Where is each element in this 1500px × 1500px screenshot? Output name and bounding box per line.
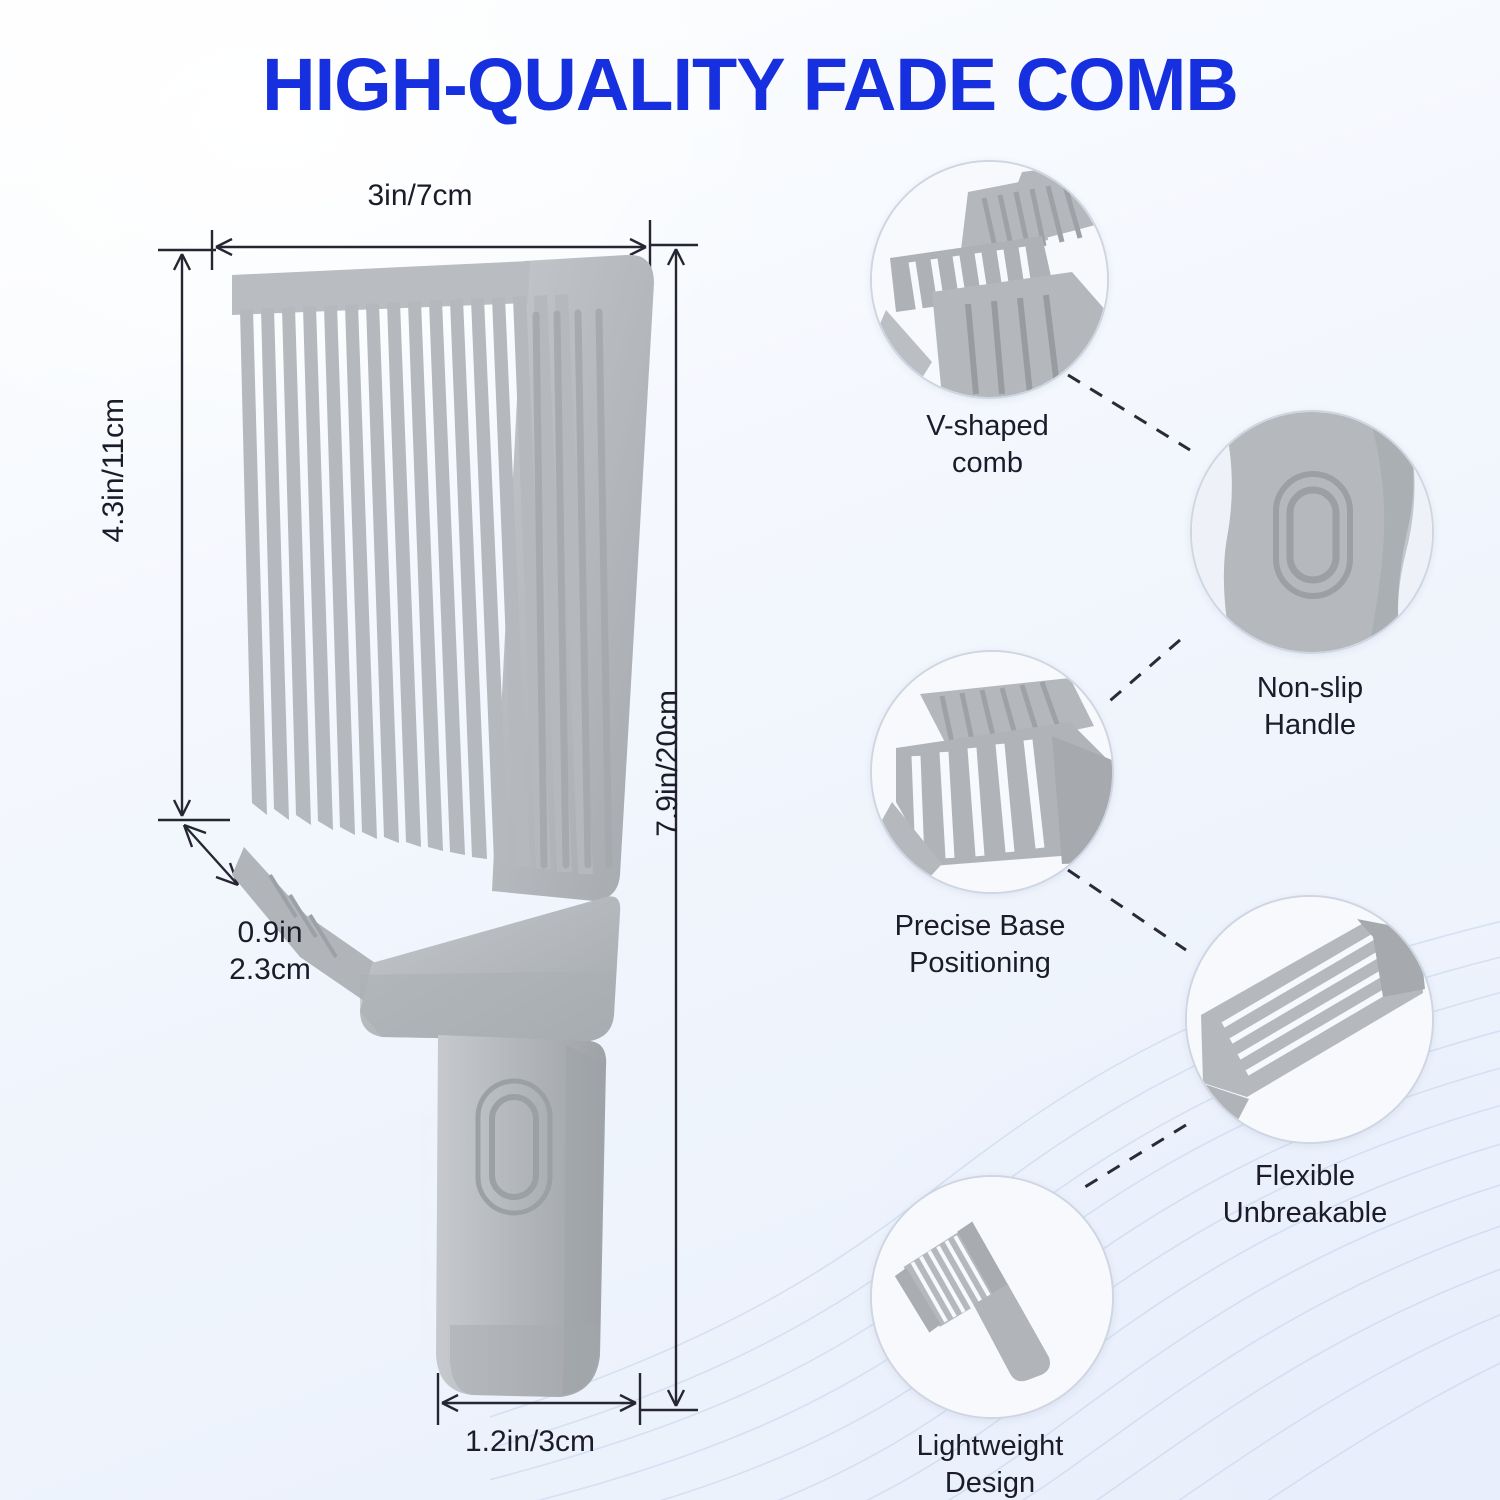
feature-caption-v-shaped-comb: V-shaped comb [850,408,1125,482]
dimension-thickness-label: 0.9in 2.3cm [175,915,365,988]
dimension-top-label: 3in/7cm [300,178,540,215]
feature-caption-precise-base: Precise Base Positioning [830,908,1130,982]
feature-callouts: V-shaped comb Non-slip Handle [830,160,1470,1490]
feature-bubble-lightweight [870,1175,1114,1419]
full-comb-closeup-icon [872,1177,1112,1417]
feature-bubble-non-slip-handle [1190,410,1434,654]
feature-bubble-flexible [1185,895,1434,1144]
feature-caption-lightweight: Lightweight Design [845,1428,1135,1500]
dimension-right-label: 7.9in/20cm [650,690,720,837]
feature-bubble-v-shaped-comb [870,160,1109,399]
page-title: HIGH-QUALITY FADE COMB [0,42,1500,127]
dimension-left-label: 4.3in/11cm [96,398,166,543]
comb-base-closeup-icon [872,652,1112,892]
handle-grip-closeup-icon [1192,412,1432,652]
feature-caption-flexible: Flexible Unbreakable [1160,1158,1450,1232]
feature-bubble-precise-base [870,650,1114,894]
comb-flex-closeup-icon [1187,897,1432,1142]
feature-caption-non-slip-handle: Non-slip Handle [1170,670,1450,744]
infographic-canvas: HIGH-QUALITY FADE COMB [0,0,1500,1500]
comb-teeth-closeup-icon [872,162,1107,397]
dimension-bottom-label: 1.2in/3cm [410,1424,650,1461]
